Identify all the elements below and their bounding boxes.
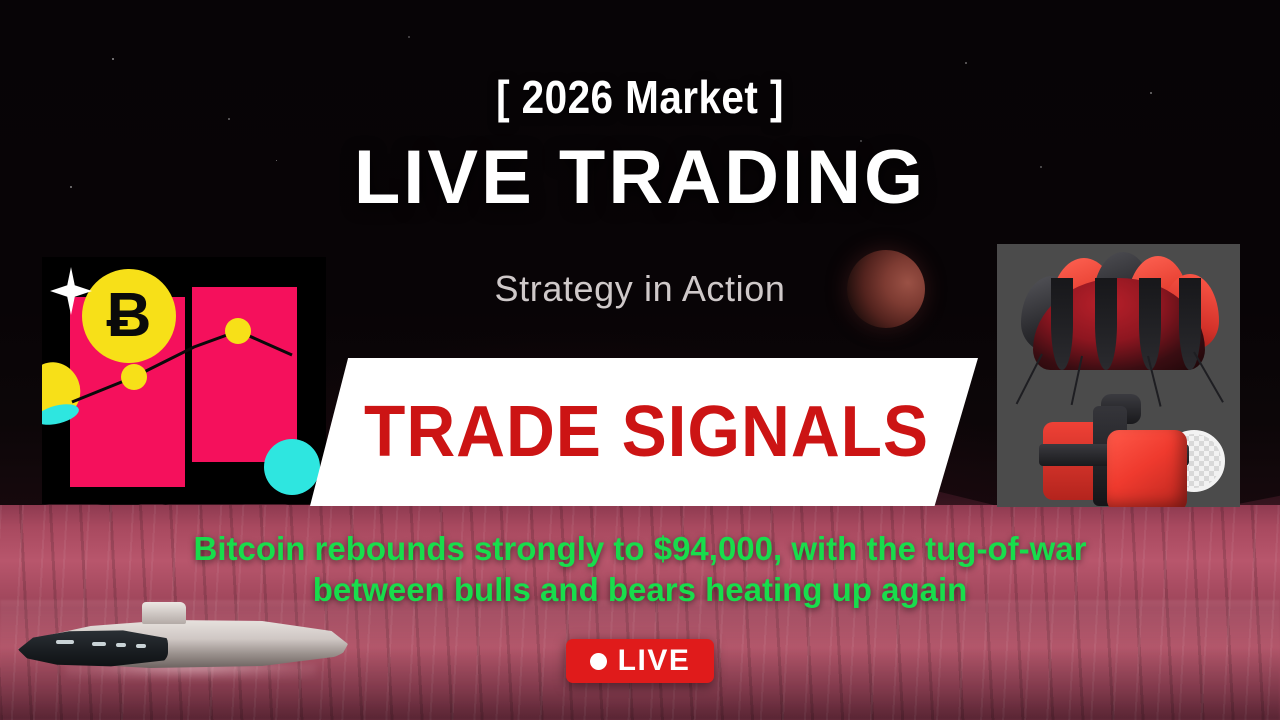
parachute-dome [1033, 278, 1205, 370]
news-line-2: between bulls and bears heating up again [40, 569, 1240, 610]
package-box-front [1107, 430, 1187, 507]
trade-signals-banner[interactable]: TRADE SIGNALS [310, 358, 978, 506]
trend-line [42, 257, 326, 504]
canopy-gore [1095, 278, 1117, 370]
bitcoin-coin-icon: Ƀ [82, 269, 176, 363]
spaceship-window [136, 644, 146, 648]
kicker-label: [ 2026 Market ] [77, 70, 1203, 124]
canopy-gore [1139, 278, 1161, 370]
chart-point-dot [121, 364, 147, 390]
spaceship-graphic [18, 600, 348, 686]
star-speck [965, 62, 967, 64]
live-badge[interactable]: LIVE [566, 639, 714, 683]
canopy-gore [1051, 278, 1073, 370]
spaceship-window [56, 640, 74, 644]
parachute-package-3d [997, 244, 1240, 507]
spaceship-window [116, 643, 126, 647]
star-speck [408, 36, 410, 38]
news-line-1: Bitcoin rebounds strongly to $94,000, wi… [40, 528, 1240, 569]
bitcoin-chart-illustration: Ƀ [42, 257, 326, 504]
page-title: LIVE TRADING [0, 140, 1280, 216]
trade-signals-label: TRADE SIGNALS [365, 391, 930, 473]
news-headline: Bitcoin rebounds strongly to $94,000, wi… [40, 528, 1240, 611]
chart-point-dot [225, 318, 251, 344]
poster-canvas: [ 2026 Market ] LIVE TRADING Strategy in… [0, 0, 1280, 720]
star-speck [112, 58, 114, 60]
live-dot-icon [590, 653, 607, 670]
live-badge-label: LIVE [618, 646, 691, 676]
spaceship-window [92, 642, 106, 646]
